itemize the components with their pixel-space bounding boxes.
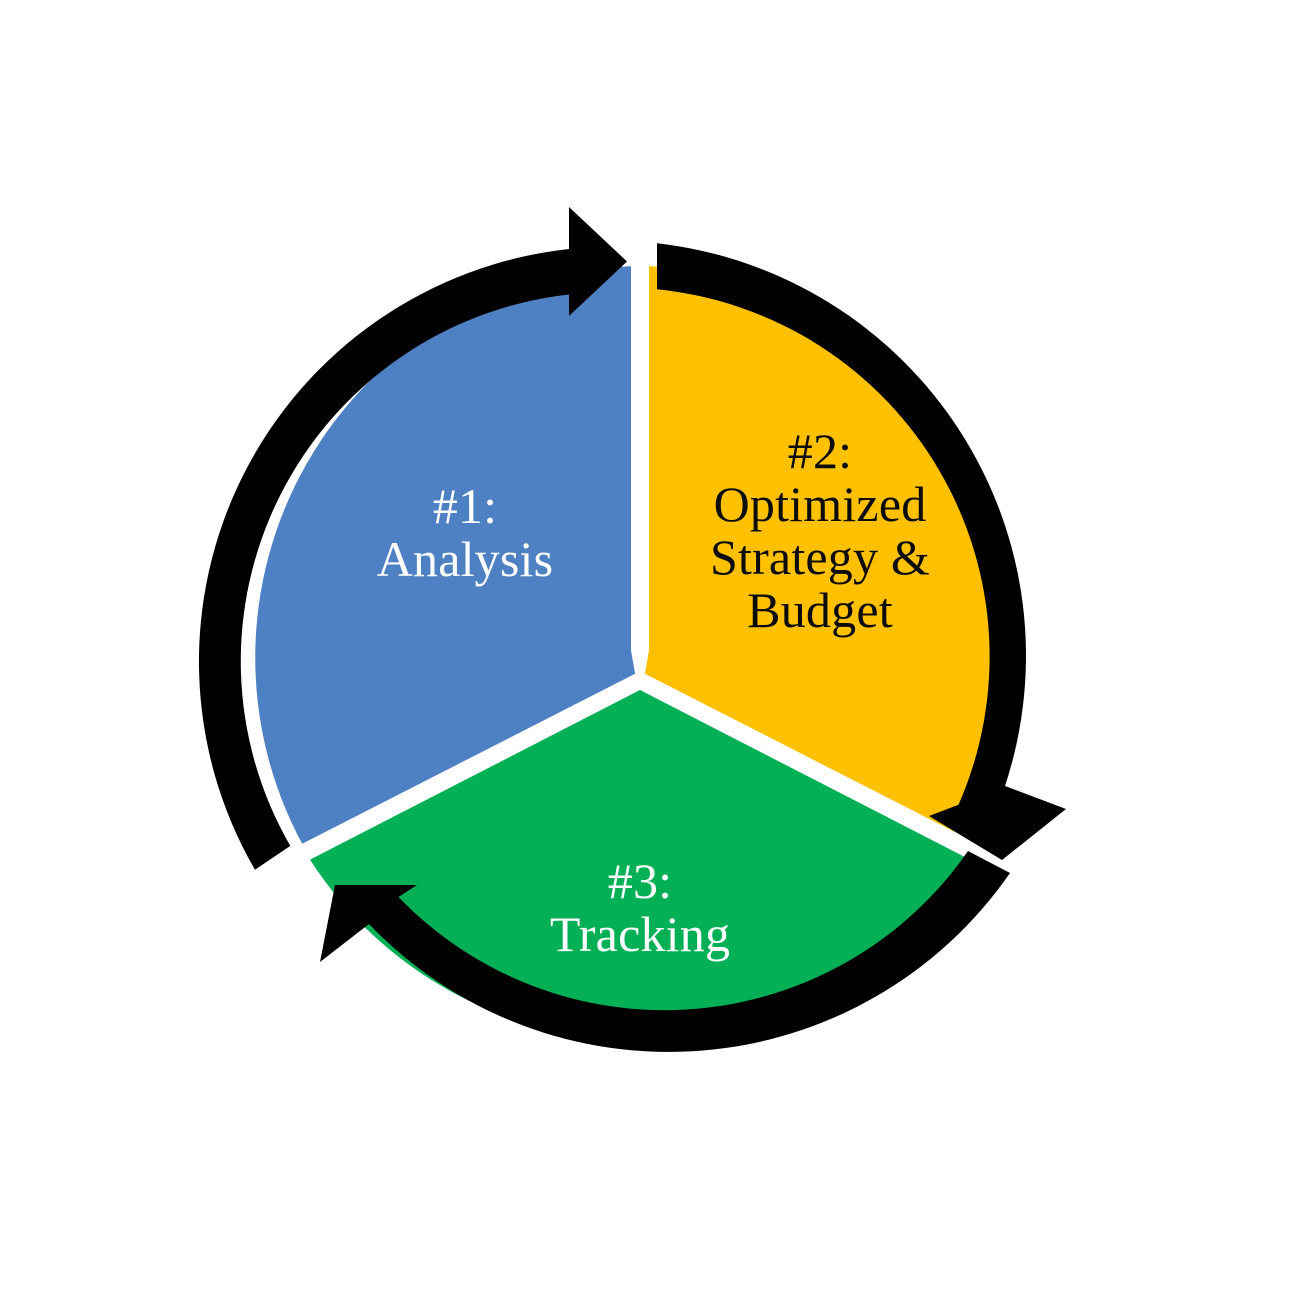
cycle-diagram: #1: Analysis #2: Optimized Strategy & Bu… (0, 0, 1300, 1300)
cycle-diagram-graphic (0, 0, 1300, 1300)
